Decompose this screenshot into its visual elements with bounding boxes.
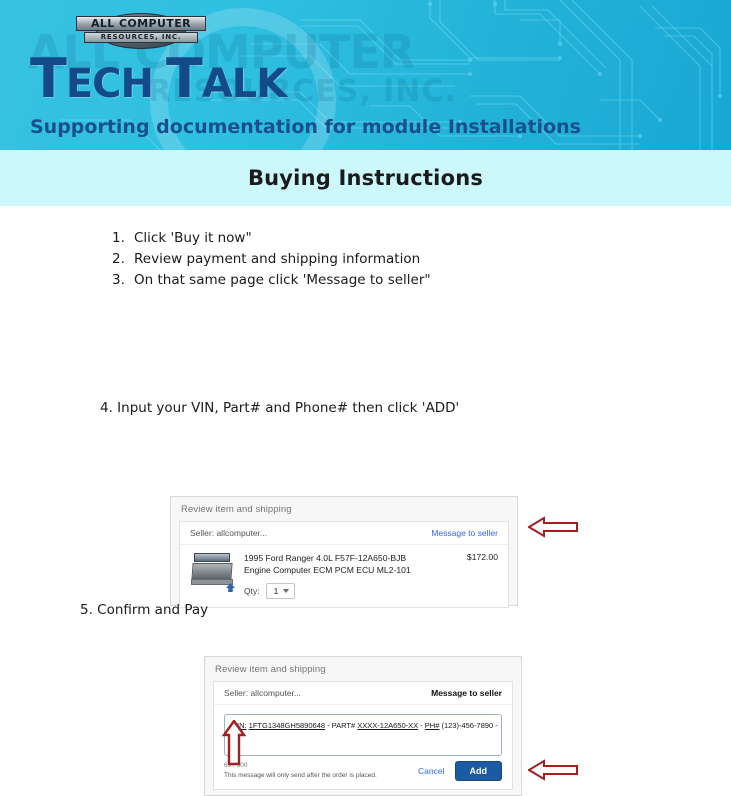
- panel2-seller-name: Seller: allcomputer...: [224, 688, 301, 698]
- step-text: Review payment and shipping information: [134, 251, 420, 267]
- wordmark-t2: T: [166, 47, 202, 110]
- message-separator-1: - PART#: [325, 721, 357, 730]
- panel1-card: Seller: allcomputer... Message to seller…: [179, 521, 509, 608]
- composer-footer: 69 / 500 This message will only send aft…: [224, 761, 502, 781]
- wordmark-t1: T: [30, 47, 66, 110]
- step-text: On that same page click 'Message to sell…: [134, 272, 431, 288]
- wordmark-ech: ECH: [66, 61, 166, 107]
- panel2-heading: Review item and shipping: [205, 657, 521, 681]
- company-logo: ALL COMPUTER RESOURCES, INC.: [76, 14, 206, 48]
- step-number: 2.: [112, 249, 134, 270]
- page-title: Buying Instructions: [248, 166, 483, 190]
- panel1-item-row: 1995 Ford Ranger 4.0L F57F-12A650-BJB En…: [180, 545, 508, 607]
- phone-value: (123)-456-7890 -: [439, 721, 497, 730]
- list-item: 2.Review payment and shipping informatio…: [112, 249, 632, 270]
- document-body: 1.Click 'Buy it now" 2.Review payment an…: [0, 206, 731, 720]
- panel1-seller-row: Seller: allcomputer... Message to seller: [180, 522, 508, 545]
- logo-top-text: ALL COMPUTER: [76, 16, 206, 31]
- item-price: $172.00: [461, 552, 498, 599]
- title-band: Buying Instructions: [0, 150, 731, 206]
- step-5-text: 5. Confirm and Pay: [80, 602, 208, 618]
- character-counter: 69 / 500: [224, 761, 377, 771]
- review-item-panel-1: Review item and shipping Seller: allcomp…: [170, 496, 518, 606]
- part-number-value: XXXX-12A650-XX: [357, 721, 418, 730]
- chevron-down-icon: [283, 589, 289, 593]
- composer-note: This message will only send after the or…: [224, 771, 377, 781]
- quantity-label: Qty:: [244, 586, 260, 596]
- phone-label: PH#: [425, 721, 440, 730]
- step-text: Click 'Buy it now": [134, 230, 252, 246]
- thumbnail-label-strip: [194, 553, 230, 562]
- arrow-pointing-to-message-field: [222, 720, 246, 766]
- vin-value: 1FTG1348GH5890648: [249, 721, 325, 730]
- panel1-seller-name: Seller: allcomputer...: [190, 528, 267, 538]
- quantity-row: Qty: 1: [244, 583, 461, 599]
- thumbnail-base: [191, 579, 233, 585]
- add-button[interactable]: Add: [455, 761, 503, 781]
- panel2-card: Seller: allcomputer... Message to seller…: [213, 681, 513, 790]
- list-item: 3.On that same page click 'Message to se…: [112, 270, 632, 291]
- item-title-line1: 1995 Ford Ranger 4.0L F57F-12A650-BJB: [244, 552, 461, 564]
- step-4-text: 4. Input your VIN, Part# and Phone# then…: [100, 400, 459, 416]
- page-header-banner: ALL COMPUTER RESOURCES, INC. ALL COMPUTE…: [0, 0, 731, 150]
- item-title-line2: Engine Computer ECM PCM ECU ML2-101: [244, 564, 461, 576]
- panel2-seller-row: Seller: allcomputer... Message to seller: [214, 682, 512, 705]
- cancel-button[interactable]: Cancel: [416, 764, 446, 778]
- quantity-select[interactable]: 1: [266, 583, 296, 599]
- panel1-heading: Review item and shipping: [171, 497, 517, 521]
- arrow-pointing-to-add-button: [528, 759, 578, 781]
- panel1-item-details: 1995 Ford Ranger 4.0L F57F-12A650-BJB En…: [244, 552, 461, 599]
- step-number: 3.: [112, 270, 134, 291]
- message-composer: VIN: 1FTG1348GH5890648 - PART# XXXX-12A6…: [214, 705, 512, 789]
- review-item-panel-2: Review item and shipping Seller: allcomp…: [204, 656, 522, 796]
- message-textarea[interactable]: VIN: 1FTG1348GH5890648 - PART# XXXX-12A6…: [224, 714, 502, 756]
- wordmark-alk: ALK: [202, 61, 286, 107]
- header-tagline: Supporting documentation for module Inst…: [30, 116, 581, 138]
- step-number: 1.: [112, 228, 134, 249]
- message-to-seller-link[interactable]: Message to seller: [431, 528, 498, 538]
- list-item: 1.Click 'Buy it now": [112, 228, 632, 249]
- composer-buttons: Cancel Add: [416, 761, 502, 781]
- instruction-step-list: 1.Click 'Buy it now" 2.Review payment an…: [112, 228, 632, 291]
- message-separator-2: -: [418, 721, 425, 730]
- character-counter-block: 69 / 500 This message will only send aft…: [224, 761, 377, 781]
- product-thumbnail-icon: [190, 552, 236, 592]
- thumbnail-ecm-module: [191, 563, 232, 580]
- logo-bottom-text: RESOURCES, INC.: [84, 32, 198, 43]
- quantity-value: 1: [274, 586, 279, 596]
- arrow-pointing-to-message-to-seller: [528, 516, 578, 538]
- message-to-seller-header: Message to seller: [431, 688, 502, 698]
- message-text: VIN: 1FTG1348GH5890648 - PART# XXXX-12A6…: [232, 721, 494, 730]
- tech-talk-wordmark: TECH TALK: [30, 52, 286, 111]
